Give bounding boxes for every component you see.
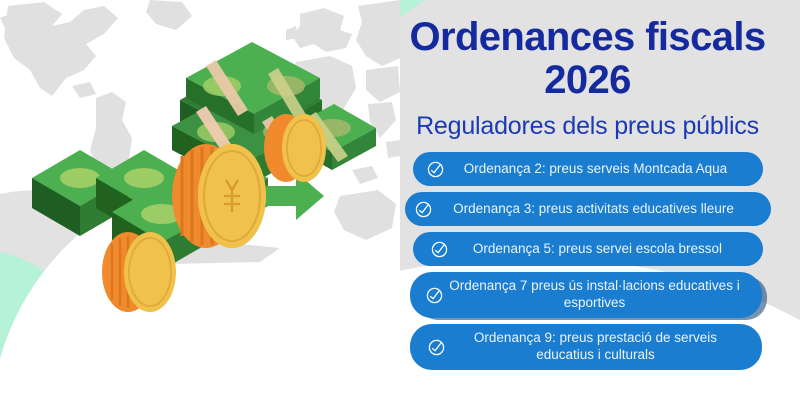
gold-coin-large [172, 144, 266, 248]
ordinance-list: Ordenança 2: preus serveis Montcada Aqua… [395, 152, 795, 376]
list-item-ordinance-9[interactable]: Ordenança 9: preus prestació de serveis … [410, 324, 762, 370]
gold-coin-right [264, 114, 326, 182]
gold-coin-small [102, 232, 176, 312]
check-circle-icon [426, 287, 443, 304]
page-title-line1: Ordenances fiscals [409, 15, 765, 59]
check-circle-icon [431, 241, 448, 258]
list-item-ordinance-7[interactable]: Ordenança 7 preus ús instal·lacions educ… [410, 272, 762, 318]
list-item-ordinance-2[interactable]: Ordenança 2: preus serveis Montcada Aqua [413, 152, 763, 186]
page-title: Ordenances fiscals 2026 [385, 16, 790, 102]
list-item-label: Ordenança 7 preus ús instal·lacions educ… [443, 278, 752, 312]
list-item-label: Ordenança 9: preus prestació de serveis … [445, 330, 752, 364]
list-item-ordinance-3[interactable]: Ordenança 3: preus activitats educatives… [405, 192, 771, 226]
check-circle-icon [415, 201, 432, 218]
check-circle-icon [428, 339, 445, 356]
list-item-ordinance-5[interactable]: Ordenança 5: preus servei escola bressol [413, 232, 763, 266]
list-item-label: Ordenança 2: preus serveis Montcada Aqua [444, 161, 753, 178]
page-subtitle: Reguladores dels preus públics [385, 112, 790, 141]
poster-canvas: Ordenances fiscals 2026 Reguladores dels… [0, 0, 800, 400]
list-item-label: Ordenança 5: preus servei escola bressol [448, 241, 753, 258]
list-item-label: Ordenança 3: preus activitats educatives… [432, 201, 761, 218]
check-circle-icon [427, 161, 444, 178]
money-illustration [0, 0, 400, 400]
page-title-line2: 2026 [385, 59, 790, 102]
